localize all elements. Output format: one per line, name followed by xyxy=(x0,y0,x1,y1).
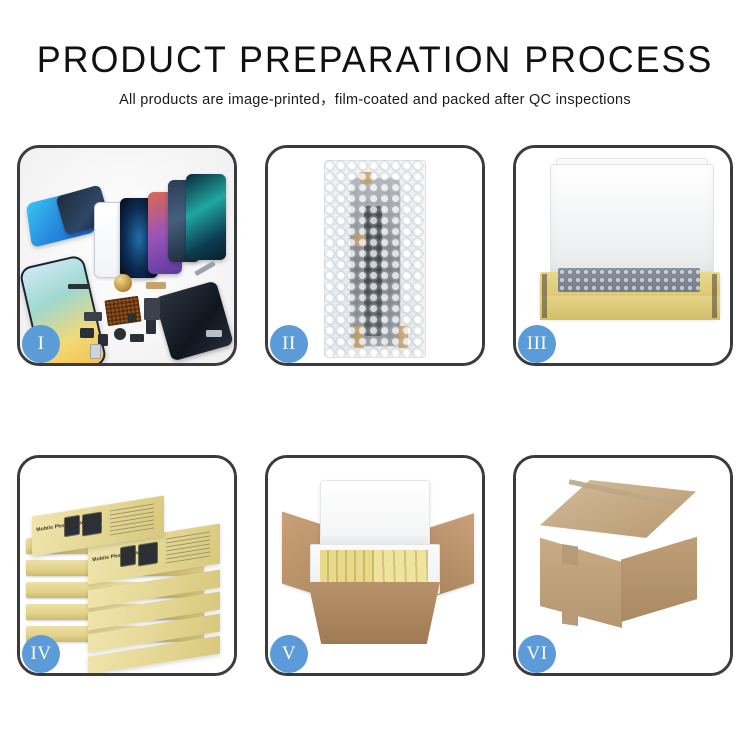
step-badge-5: V xyxy=(270,635,308,673)
page-header: PRODUCT PREPARATION PROCESS All products… xyxy=(0,38,750,109)
tape-piece xyxy=(360,172,372,184)
tape-piece xyxy=(354,234,366,246)
tape-piece xyxy=(354,326,364,348)
component-part xyxy=(84,312,102,321)
process-step-panel-2: II xyxy=(265,145,485,366)
carton-left-face xyxy=(540,518,622,628)
process-step-panel-6: VI xyxy=(513,455,733,676)
component-part xyxy=(68,284,90,289)
box-stack: Mobile Phone Spare Parts Mobile Phone Sp… xyxy=(26,476,234,666)
carton-body xyxy=(308,582,440,644)
tape-piece xyxy=(398,326,408,348)
speaker-module-icon xyxy=(114,274,132,292)
page-subtitle: All products are image-printed，film-coat… xyxy=(0,88,750,109)
component-part xyxy=(144,298,160,320)
phone-screen-teal xyxy=(186,174,226,260)
box-front-face xyxy=(540,296,720,320)
process-step-panel-1: I xyxy=(17,145,237,366)
page-title: PRODUCT PREPARATION PROCESS xyxy=(11,38,739,82)
process-step-panel-5: V xyxy=(265,455,485,676)
component-part xyxy=(130,334,144,342)
component-part xyxy=(90,344,101,359)
component-part xyxy=(206,330,222,337)
box-foam-lid xyxy=(550,164,714,276)
carton-tape-patch xyxy=(562,606,578,626)
process-step-panel-3: III xyxy=(513,145,733,366)
box-corner-right xyxy=(712,274,717,318)
phone-back-housing xyxy=(154,280,234,361)
bubble-wrapped-contents xyxy=(558,268,700,292)
step-badge-2: II xyxy=(270,325,308,363)
component-part xyxy=(146,282,166,289)
step-badge-6: VI xyxy=(518,635,556,673)
component-part xyxy=(114,328,126,340)
carton-tape-patch xyxy=(562,544,578,566)
step-badge-4: IV xyxy=(22,635,60,673)
flex-cable-strip xyxy=(364,206,382,336)
process-step-panel-4: Mobile Phone Spare Parts Mobile Phone Sp… xyxy=(17,455,237,676)
step-badge-1: I xyxy=(22,325,60,363)
chip-array-icon xyxy=(104,296,141,326)
step-badge-3: III xyxy=(518,325,556,363)
box-corner-left xyxy=(542,274,547,318)
component-part xyxy=(80,328,94,338)
component-part xyxy=(128,314,136,322)
process-step-grid: I II III xyxy=(17,145,733,676)
component-part xyxy=(146,318,156,334)
component-part xyxy=(194,261,216,276)
